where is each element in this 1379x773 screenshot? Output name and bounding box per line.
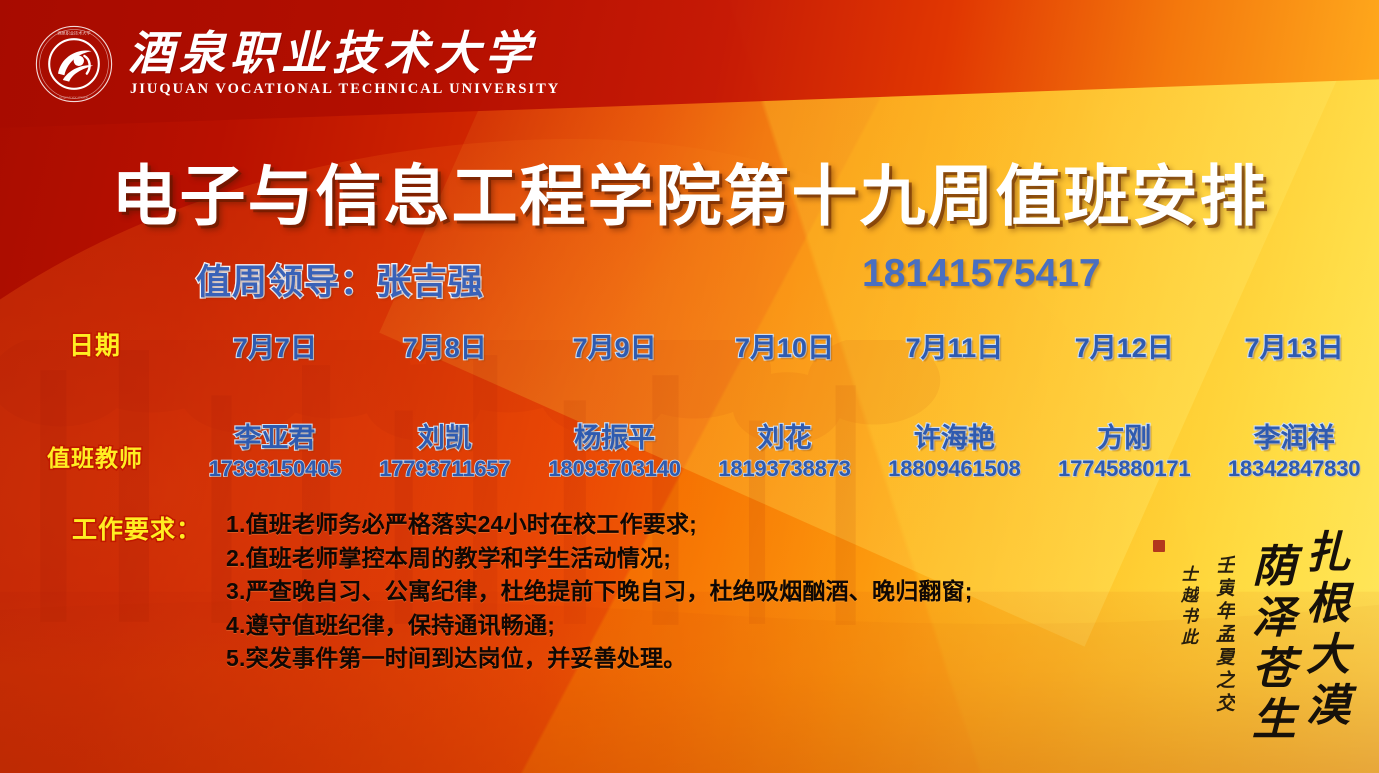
table-cell-date: 7月13日 [1209,326,1379,365]
date-value: 7月8日 [403,333,487,363]
date-value: 7月12日 [1075,333,1174,363]
table-cell-teacher: 刘花 18193738873 [700,423,870,482]
requirement-item: 2.值班老师掌控本周的教学和学生活动情况; [226,542,973,576]
teacher-name: 许海艳 [869,423,1039,455]
date-value: 7月10日 [735,333,834,363]
university-name-cn: 酒泉职业技术大学 [128,30,560,78]
requirement-item: 4.遵守值班纪律，保持通讯畅通; [226,609,973,643]
requirement-item: 5.突发事件第一时间到达岗位，并妥善处理。 [226,642,973,676]
schedule-date-row: 日期 7月7日 7月8日 7月9日 7月10日 7月11日 7月12日 7月13… [0,326,1379,365]
requirements-label: 工作要求： [72,508,202,546]
calligraphy-line-2: 荫泽苍生 [1247,543,1291,747]
svg-text:JIUQUAN VOCATIONAL: JIUQUAN VOCATIONAL [59,96,89,99]
teacher-phone: 18193738873 [700,455,870,483]
teacher-phone: 18809461508 [869,455,1039,483]
requirement-item: 3.严查晚自习、公寓纪律，杜绝提前下晚自习，杜绝吸烟酗酒、晚归翻窗; [226,575,973,609]
schedule-teacher-row: 值班教师 李亚君 17393150405 刘凯 17793711657 杨振平 … [0,423,1379,482]
table-cell-date: 7月7日 [190,326,360,365]
table-cell-teacher: 李亚君 17393150405 [190,423,360,482]
red-seal-icon [1153,540,1165,552]
calligraphy-signature-1: 壬寅年孟夏之交 [1210,555,1237,716]
teacher-row-label: 值班教师 [0,423,190,473]
teacher-phone: 18342847830 [1209,455,1379,483]
requirements-list: 1.值班老师务必严格落实24小时在校工作要求; 2.值班老师掌控本周的教学和学生… [202,508,973,676]
teacher-name: 刘花 [700,423,870,455]
date-value: 7月9日 [573,333,657,363]
university-seal-icon: 酒泉职业技术大学 JIUQUAN VOCATIONAL [34,24,114,104]
duty-schedule-poster: 酒泉职业技术大学 JIUQUAN VOCATIONAL 酒泉职业技术大学 JIU… [0,0,1379,773]
university-header: 酒泉职业技术大学 JIUQUAN VOCATIONAL 酒泉职业技术大学 JIU… [34,24,560,104]
table-cell-date: 7月10日 [700,326,870,365]
schedule-table: 日期 7月7日 7月8日 7月9日 7月10日 7月11日 7月12日 7月13… [0,326,1379,482]
date-row-label: 日期 [0,326,190,362]
teacher-phone: 18093703140 [530,455,700,483]
teacher-name: 刘凯 [360,423,530,455]
requirement-item: 1.值班老师务必严格落实24小时在校工作要求; [226,508,973,542]
leader-phone: 18141575417 [862,252,1101,296]
table-cell-teacher: 杨振平 18093703140 [530,423,700,482]
teacher-phone: 17393150405 [190,455,360,483]
calligraphy-signature-2: 士越书此 [1175,565,1200,649]
leader-name: 值周领导：张吉强 [196,254,484,305]
calligraphy-seal-group [1153,539,1165,557]
calligraphy-line-1: 扎根大漠 [1301,529,1345,733]
teacher-phone: 17745880171 [1039,455,1209,483]
teacher-phone: 17793711657 [360,455,530,483]
teacher-name: 方刚 [1039,423,1209,455]
university-brand: 酒泉职业技术大学 JIUQUAN VOCATIONAL TECHNICAL UN… [128,30,560,97]
date-value: 7月7日 [233,333,317,363]
teacher-name: 杨振平 [530,423,700,455]
table-cell-date: 7月9日 [530,326,700,365]
leader-row: 值周领导：张吉强 18141575417 [0,254,1379,302]
requirements-section: 工作要求： 1.值班老师务必严格落实24小时在校工作要求; 2.值班老师掌控本周… [72,508,973,676]
table-cell-date: 7月12日 [1039,326,1209,365]
table-cell-date: 7月8日 [360,326,530,365]
table-cell-teacher: 许海艳 18809461508 [869,423,1039,482]
table-cell-teacher: 方刚 17745880171 [1039,423,1209,482]
table-cell-date: 7月11日 [869,326,1039,365]
teacher-name: 李亚君 [190,423,360,455]
teacher-name: 李润祥 [1209,423,1379,455]
page-title: 电子与信息工程学院第十九周值班安排 [0,143,1379,239]
table-cell-teacher: 李润祥 18342847830 [1209,423,1379,482]
date-value: 7月11日 [906,333,1004,363]
calligraphy-artwork: 扎根大漠 荫泽苍生 壬寅年孟夏之交 士越书此 [1153,529,1345,747]
date-value: 7月13日 [1245,333,1344,363]
table-cell-teacher: 刘凯 17793711657 [360,423,530,482]
svg-text:酒泉职业技术大学: 酒泉职业技术大学 [57,29,90,35]
university-name-en: JIUQUAN VOCATIONAL TECHNICAL UNIVERSITY [128,81,560,98]
